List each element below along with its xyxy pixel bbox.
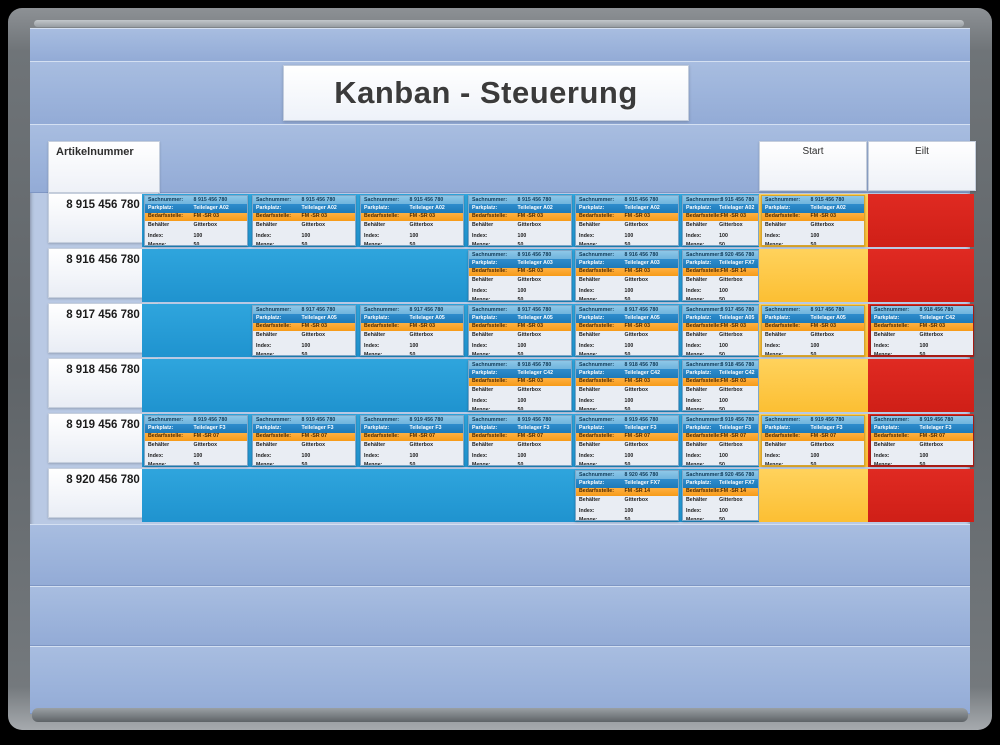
card-sachnummer: Sachnummer:8 920 456 780 [683,471,758,479]
card-parkplatz-value: Teilelager F3 [302,426,355,431]
card-parkplatz-value: Teilelager F3 [410,426,463,431]
card-sachnummer-value: 8 918 456 780 [518,363,571,368]
card-index: Index:100 [683,343,758,351]
card-index-key: Index: [576,234,625,239]
card-index-value: 100 [719,454,758,459]
kanban-row: 8 919 456 780Sachnummer:8 919 456 780Par… [30,413,970,467]
kanban-card[interactable]: Sachnummer:8 917 456 780Parkplatz:Teilel… [252,305,356,356]
card-menge-value: 50 [625,408,678,411]
card-behaelter-value: Gitterbox [410,223,463,228]
card-parkplatz-value: Teilelager A05 [811,316,864,321]
card-menge-key: Menge: [253,353,302,356]
card-behaelter: BehälterGitterbox [469,386,571,394]
kanban-card[interactable]: Sachnummer:8 915 456 780Parkplatz:Teilel… [682,195,759,246]
card-sachnummer-value: 8 917 456 780 [625,308,678,313]
kanban-slot-blue[interactable] [358,359,466,412]
card-index-value: 100 [625,454,678,459]
card-parkplatz-value: Teilelager A05 [302,316,355,321]
card-bedarfsstelle-key: Bedarfsstelle: [145,214,194,219]
card-sachnummer: Sachnummer:8 915 456 780 [145,196,247,204]
card-bedarfsstelle-value: FM -SR 14 [625,489,678,494]
card-behaelter-key: Behälter [361,223,410,228]
card-sachnummer: Sachnummer:8 915 456 780 [576,196,678,204]
card-behaelter-value: Gitterbox [410,333,463,338]
kanban-slot-blue[interactable] [142,469,250,522]
card-bedarfsstelle-value: FM -SR 03 [302,324,355,329]
card-bedarfsstelle-value: FM -SR 03 [625,324,678,329]
card-bedarfsstelle-key: Bedarfsstelle: [762,324,811,329]
kanban-slot-blue[interactable] [358,469,466,522]
kanban-slot-red[interactable] [868,469,974,522]
card-behaelter: BehälterGitterbox [683,221,758,229]
card-sachnummer-value: 8 920 456 780 [721,253,759,258]
card-sachnummer: Sachnummer:8 915 456 780 [469,196,571,204]
card-sachnummer-key: Sachnummer: [871,418,920,423]
card-parkplatz-key: Parkplatz: [253,426,302,431]
card-index-value: 100 [719,344,758,349]
row-label-text: 8 915 456 780 [66,199,140,211]
card-behaelter-value: Gitterbox [518,333,571,338]
card-parkplatz-key: Parkplatz: [145,426,194,431]
page-title: Kanban - Steuerung [334,75,638,111]
card-sachnummer: Sachnummer:8 919 456 780 [361,416,463,424]
card-bedarfsstelle: Bedarfsstelle:FM -SR 03 [576,323,678,331]
card-menge-value: 50 [625,518,678,521]
card-menge: Menge:50 [576,516,678,521]
card-index: Index:100 [253,453,355,461]
card-menge-key: Menge: [576,353,625,356]
card-parkplatz: Parkplatz:Teilelager F3 [871,424,973,432]
card-parkplatz-value: Teilelager A05 [625,316,678,321]
kanban-card[interactable]: Sachnummer:8 915 456 780Parkplatz:Teilel… [761,195,865,246]
card-index-key: Index: [683,509,719,514]
kanban-card[interactable]: Sachnummer:8 916 456 780Parkplatz:Teilel… [468,250,572,301]
card-index-key: Index: [253,454,302,459]
card-menge-value: 50 [811,243,864,246]
card-sachnummer-key: Sachnummer: [683,253,721,258]
kanban-card[interactable]: Sachnummer:8 919 456 780Parkplatz:Teilel… [360,415,464,466]
card-menge: Menge:50 [253,461,355,466]
card-behaelter-value: Gitterbox [625,498,678,503]
card-sachnummer: Sachnummer:8 917 456 780 [469,306,571,314]
card-bedarfsstelle-key: Bedarfsstelle: [576,434,625,439]
card-behaelter-value: Gitterbox [920,333,973,338]
card-behaelter: BehälterGitterbox [683,496,758,504]
card-parkplatz-value: Teilelager A03 [625,261,678,266]
card-menge-value: 50 [719,298,758,301]
card-menge: Menge:50 [361,351,463,356]
card-behaelter: BehälterGitterbox [683,331,758,339]
card-bedarfsstelle-key: Bedarfsstelle: [469,269,518,274]
card-bedarfsstelle-key: Bedarfsstelle: [576,324,625,329]
card-bedarfsstelle: Bedarfsstelle:FM -SR 03 [469,323,571,331]
card-behaelter-key: Behälter [145,443,194,448]
card-menge-key: Menge: [762,243,811,246]
card-index-key: Index: [361,344,410,349]
card-bedarfsstelle-value: FM -SR 03 [410,214,463,219]
kanban-card[interactable]: Sachnummer:8 917 456 780Parkplatz:Teilel… [682,305,759,356]
card-menge: Menge:50 [576,461,678,466]
card-behaelter: BehälterGitterbox [469,331,571,339]
kanban-slot-yellow[interactable] [759,359,868,412]
row-label-text: 8 919 456 780 [66,419,140,431]
card-menge-key: Menge: [145,463,194,466]
card-parkplatz: Parkplatz:Teilelager A05 [469,314,571,322]
card-menge: Menge:50 [762,241,864,246]
card-bedarfsstelle: Bedarfsstelle:FM -SR 03 [762,213,864,221]
kanban-card[interactable]: Sachnummer:8 915 456 780Parkplatz:Teilel… [360,195,464,246]
card-behaelter-value: Gitterbox [518,223,571,228]
card-parkplatz-value: Teilelager A02 [518,206,571,211]
kanban-card[interactable]: Sachnummer:8 915 456 780Parkplatz:Teilel… [252,195,356,246]
card-menge-key: Menge: [576,518,625,521]
card-menge-key: Menge: [469,353,518,356]
kanban-slot-blue[interactable] [250,359,358,412]
card-index: Index:100 [576,343,678,351]
kanban-card[interactable]: Sachnummer:8 919 456 780Parkplatz:Teilel… [682,415,759,466]
card-behaelter-value: Gitterbox [811,443,864,448]
card-behaelter-key: Behälter [762,333,811,338]
card-index-key: Index: [361,234,410,239]
card-parkplatz-key: Parkplatz: [145,206,194,211]
card-sachnummer-key: Sachnummer: [253,308,302,313]
card-index-value: 100 [719,289,758,294]
kanban-card[interactable]: Sachnummer:8 919 456 780Parkplatz:Teilel… [144,415,248,466]
kanban-row: 8 917 456 780Sachnummer:8 917 456 780Par… [30,303,970,357]
card-sachnummer-key: Sachnummer: [576,473,625,478]
card-menge: Menge:50 [361,461,463,466]
card-index: Index:100 [871,453,973,461]
card-sachnummer-value: 8 919 456 780 [518,418,571,423]
card-behaelter-key: Behälter [871,443,920,448]
card-parkplatz-key: Parkplatz: [683,371,719,376]
kanban-card[interactable]: Sachnummer:8 915 456 780Parkplatz:Teilel… [468,195,572,246]
card-menge-key: Menge: [683,353,719,356]
card-behaelter-key: Behälter [253,333,302,338]
kanban-slot-red[interactable] [868,194,974,247]
card-menge-key: Menge: [469,463,518,466]
card-parkplatz: Parkplatz:Teilelager C42 [576,369,678,377]
kanban-slot-blue[interactable] [142,304,250,357]
kanban-slot-blue[interactable] [466,469,573,522]
card-bedarfsstelle-key: Bedarfsstelle: [683,269,721,274]
column-header-start: Start [759,141,867,191]
card-behaelter: BehälterGitterbox [576,331,678,339]
card-index-key: Index: [253,234,302,239]
card-behaelter-value: Gitterbox [811,223,864,228]
card-menge-key: Menge: [145,243,194,246]
card-menge: Menge:50 [469,406,571,411]
card-parkplatz: Parkplatz:Teilelager A02 [469,204,571,212]
card-menge-value: 50 [920,353,973,356]
card-bedarfsstelle: Bedarfsstelle:FM -SR 07 [871,433,973,441]
kanban-card[interactable]: Sachnummer:8 917 456 780Parkplatz:Teilel… [761,305,865,356]
card-parkplatz-key: Parkplatz: [871,316,920,321]
card-bedarfsstelle: Bedarfsstelle:FM -SR 03 [762,323,864,331]
card-behaelter-value: Gitterbox [625,388,678,393]
kanban-slot-yellow[interactable] [759,469,868,522]
card-index: Index:100 [145,453,247,461]
card-index-value: 100 [719,509,758,514]
card-sachnummer-value: 8 917 456 780 [302,308,355,313]
card-parkplatz: Parkplatz:Teilelager C42 [871,314,973,322]
card-parkplatz: Parkplatz:Teilelager A02 [253,204,355,212]
card-bedarfsstelle: Bedarfsstelle:FM -SR 03 [576,268,678,276]
card-index-value: 100 [920,454,973,459]
card-bedarfsstelle-key: Bedarfsstelle: [361,434,410,439]
card-bedarfsstelle-value: FM -SR 03 [194,214,247,219]
kanban-card[interactable]: Sachnummer:8 915 456 780Parkplatz:Teilel… [144,195,248,246]
card-index: Index:100 [683,453,758,461]
card-behaelter-key: Behälter [361,333,410,338]
kanban-card[interactable]: Sachnummer:8 915 456 780Parkplatz:Teilel… [575,195,679,246]
card-parkplatz-key: Parkplatz: [469,426,518,431]
card-sachnummer: Sachnummer:8 919 456 780 [253,416,355,424]
card-index: Index:100 [576,398,678,406]
card-sachnummer-key: Sachnummer: [762,418,811,423]
card-bedarfsstelle-key: Bedarfsstelle: [253,214,302,219]
card-index: Index:100 [762,453,864,461]
kanban-card[interactable]: Sachnummer:8 918 456 780Parkplatz:Teilel… [575,360,679,411]
card-menge-key: Menge: [361,353,410,356]
card-menge: Menge:50 [576,296,678,301]
card-sachnummer-key: Sachnummer: [683,473,721,478]
kanban-board-frame: Kanban - Steuerung Artikelnummer Start E… [8,8,992,730]
card-menge: Menge:50 [683,296,758,301]
card-bedarfsstelle: Bedarfsstelle:FM -SR 14 [576,488,678,496]
kanban-slot-red[interactable] [868,359,974,412]
kanban-card[interactable]: Sachnummer:8 918 456 780Parkplatz:Teilel… [870,305,974,356]
card-sachnummer: Sachnummer:8 915 456 780 [253,196,355,204]
card-sachnummer-value: 8 917 456 780 [518,308,571,313]
card-menge: Menge:50 [469,461,571,466]
card-menge-value: 50 [302,353,355,356]
kanban-slot-blue[interactable] [142,359,250,412]
card-index-value: 100 [518,289,571,294]
card-menge: Menge:50 [469,351,571,356]
card-menge: Menge:50 [469,296,571,301]
kanban-slot-yellow[interactable] [759,249,868,302]
card-menge: Menge:50 [361,241,463,246]
card-behaelter-key: Behälter [253,443,302,448]
card-bedarfsstelle-key: Bedarfsstelle: [683,324,721,329]
kanban-card[interactable]: Sachnummer:8 919 456 780Parkplatz:Teilel… [870,415,974,466]
card-parkplatz: Parkplatz:Teilelager A05 [762,314,864,322]
card-index-key: Index: [683,454,719,459]
kanban-card[interactable]: Sachnummer:8 918 456 780Parkplatz:Teilel… [468,360,572,411]
kanban-card[interactable]: Sachnummer:8 920 456 780Parkplatz:Teilel… [682,250,759,301]
card-sachnummer-value: 8 917 456 780 [410,308,463,313]
card-sachnummer-key: Sachnummer: [361,198,410,203]
kanban-card[interactable]: Sachnummer:8 920 456 780Parkplatz:Teilel… [575,470,679,521]
card-behaelter: BehälterGitterbox [762,331,864,339]
empty-panel-3 [30,646,970,714]
card-index-value: 100 [194,234,247,239]
card-parkplatz-key: Parkplatz: [683,316,719,321]
card-parkplatz-key: Parkplatz: [762,426,811,431]
card-index-value: 100 [410,344,463,349]
card-bedarfsstelle: Bedarfsstelle:FM -SR 03 [469,268,571,276]
card-behaelter-value: Gitterbox [302,223,355,228]
card-menge-key: Menge: [683,463,719,466]
card-bedarfsstelle: Bedarfsstelle:FM -SR 14 [683,488,758,496]
card-index: Index:100 [683,398,758,406]
card-bedarfsstelle-key: Bedarfsstelle: [253,434,302,439]
card-parkplatz-value: Teilelager A02 [625,206,678,211]
kanban-card[interactable]: Sachnummer:8 920 456 780Parkplatz:Teilel… [682,470,759,521]
card-sachnummer-value: 8 920 456 780 [721,473,759,478]
card-sachnummer-key: Sachnummer: [361,418,410,423]
card-index-value: 100 [302,344,355,349]
card-parkplatz-value: Teilelager C42 [719,371,758,376]
card-sachnummer-value: 8 919 456 780 [811,418,864,423]
card-sachnummer: Sachnummer:8 915 456 780 [683,196,758,204]
card-menge-value: 50 [518,243,571,246]
card-behaelter: BehälterGitterbox [361,221,463,229]
card-parkplatz-value: Teilelager FX7 [719,261,758,266]
card-menge-key: Menge: [683,408,719,411]
card-sachnummer-key: Sachnummer: [145,418,194,423]
card-sachnummer-value: 8 915 456 780 [721,198,759,203]
card-menge-key: Menge: [253,243,302,246]
card-sachnummer-key: Sachnummer: [762,308,811,313]
card-parkplatz: Parkplatz:Teilelager A05 [576,314,678,322]
card-menge-value: 50 [625,243,678,246]
card-sachnummer-key: Sachnummer: [576,253,625,258]
card-bedarfsstelle-value: FM -SR 14 [721,489,759,494]
card-parkplatz: Parkplatz:Teilelager F3 [762,424,864,432]
kanban-row: 8 916 456 780Sachnummer:8 916 456 780Par… [30,248,970,302]
card-sachnummer-key: Sachnummer: [683,418,721,423]
card-parkplatz-key: Parkplatz: [253,206,302,211]
card-sachnummer-key: Sachnummer: [469,253,518,258]
card-menge-value: 50 [194,243,247,246]
card-index: Index:100 [683,233,758,241]
card-behaelter: BehälterGitterbox [361,441,463,449]
kanban-slot-blue[interactable] [358,249,466,302]
card-index-key: Index: [762,234,811,239]
card-behaelter: BehälterGitterbox [762,441,864,449]
kanban-card[interactable]: Sachnummer:8 917 456 780Parkplatz:Teilel… [468,305,572,356]
card-menge-value: 50 [625,353,678,356]
card-parkplatz: Parkplatz:Teilelager F3 [253,424,355,432]
card-menge: Menge:50 [145,241,247,246]
card-index-key: Index: [145,454,194,459]
card-menge: Menge:50 [576,241,678,246]
card-parkplatz: Parkplatz:Teilelager A05 [361,314,463,322]
card-behaelter: BehälterGitterbox [145,441,247,449]
kanban-card[interactable]: Sachnummer:8 916 456 780Parkplatz:Teilel… [575,250,679,301]
kanban-slot-red[interactable] [868,249,974,302]
card-parkplatz-value: Teilelager FX7 [625,481,678,486]
kanban-card[interactable]: Sachnummer:8 919 456 780Parkplatz:Teilel… [252,415,356,466]
card-menge-value: 50 [410,353,463,356]
kanban-slot-blue[interactable] [250,469,358,522]
card-parkplatz: Parkplatz:Teilelager F3 [469,424,571,432]
card-bedarfsstelle: Bedarfsstelle:FM -SR 03 [576,378,678,386]
card-sachnummer-value: 8 915 456 780 [194,198,247,203]
card-menge: Menge:50 [469,241,571,246]
card-sachnummer-key: Sachnummer: [576,308,625,313]
kanban-card[interactable]: Sachnummer:8 917 456 780Parkplatz:Teilel… [360,305,464,356]
card-behaelter-value: Gitterbox [811,333,864,338]
card-index-value: 100 [920,344,973,349]
board-title-plate: Kanban - Steuerung [283,65,689,121]
card-behaelter-key: Behälter [361,443,410,448]
card-sachnummer-key: Sachnummer: [683,198,721,203]
card-sachnummer: Sachnummer:8 916 456 780 [469,251,571,259]
card-sachnummer-key: Sachnummer: [469,418,518,423]
kanban-card[interactable]: Sachnummer:8 917 456 780Parkplatz:Teilel… [575,305,679,356]
card-menge-key: Menge: [469,243,518,246]
card-parkplatz: Parkplatz:Teilelager A03 [469,259,571,267]
card-behaelter: BehälterGitterbox [576,221,678,229]
card-sachnummer: Sachnummer:8 919 456 780 [576,416,678,424]
card-parkplatz: Parkplatz:Teilelager A03 [576,259,678,267]
kanban-card[interactable]: Sachnummer:8 919 456 780Parkplatz:Teilel… [468,415,572,466]
card-bedarfsstelle-key: Bedarfsstelle: [576,489,625,494]
card-bedarfsstelle-value: FM -SR 07 [625,434,678,439]
card-behaelter-key: Behälter [683,278,719,283]
card-parkplatz: Parkplatz:Teilelager F3 [576,424,678,432]
card-parkplatz-value: Teilelager A02 [811,206,864,211]
card-parkplatz-key: Parkplatz: [576,206,625,211]
card-behaelter: BehälterGitterbox [253,221,355,229]
card-parkplatz: Parkplatz:Teilelager F3 [145,424,247,432]
card-bedarfsstelle-key: Bedarfsstelle: [469,214,518,219]
card-bedarfsstelle-key: Bedarfsstelle: [762,434,811,439]
card-bedarfsstelle-value: FM -SR 07 [302,434,355,439]
card-bedarfsstelle: Bedarfsstelle:FM -SR 03 [361,323,463,331]
card-index-value: 100 [302,454,355,459]
card-bedarfsstelle-key: Bedarfsstelle: [576,269,625,274]
card-parkplatz-key: Parkplatz: [361,316,410,321]
card-menge-value: 50 [410,463,463,466]
card-parkplatz-key: Parkplatz: [762,316,811,321]
card-behaelter-key: Behälter [469,278,518,283]
card-bedarfsstelle-key: Bedarfsstelle: [469,379,518,384]
card-sachnummer: Sachnummer:8 919 456 780 [145,416,247,424]
card-sachnummer: Sachnummer:8 920 456 780 [576,471,678,479]
card-index: Index:100 [762,343,864,351]
card-parkplatz-value: Teilelager F3 [719,426,758,431]
card-behaelter-key: Behälter [145,223,194,228]
card-bedarfsstelle: Bedarfsstelle:FM -SR 07 [683,433,758,441]
card-index-key: Index: [469,399,518,404]
card-sachnummer-value: 8 919 456 780 [194,418,247,423]
kanban-card[interactable]: Sachnummer:8 919 456 780Parkplatz:Teilel… [575,415,679,466]
card-bedarfsstelle-key: Bedarfsstelle: [683,379,721,384]
kanban-row: 8 920 456 780Sachnummer:8 920 456 780Par… [30,468,970,522]
card-parkplatz-key: Parkplatz: [361,426,410,431]
card-behaelter: BehälterGitterbox [683,386,758,394]
card-parkplatz: Parkplatz:Teilelager F3 [361,424,463,432]
kanban-row: 8 918 456 780Sachnummer:8 918 456 780Par… [30,358,970,412]
card-bedarfsstelle: Bedarfsstelle:FM -SR 03 [145,213,247,221]
kanban-slot-blue[interactable] [142,249,250,302]
card-sachnummer: Sachnummer:8 917 456 780 [683,306,758,314]
card-menge-value: 50 [719,353,758,356]
card-sachnummer-key: Sachnummer: [762,198,811,203]
kanban-card[interactable]: Sachnummer:8 918 456 780Parkplatz:Teilel… [682,360,759,411]
card-sachnummer: Sachnummer:8 919 456 780 [762,416,864,424]
kanban-card[interactable]: Sachnummer:8 919 456 780Parkplatz:Teilel… [761,415,865,466]
card-parkplatz: Parkplatz:Teilelager A02 [145,204,247,212]
kanban-slot-blue[interactable] [250,249,358,302]
card-index-key: Index: [145,234,194,239]
card-bedarfsstelle-key: Bedarfsstelle: [361,324,410,329]
card-bedarfsstelle: Bedarfsstelle:FM -SR 03 [469,213,571,221]
